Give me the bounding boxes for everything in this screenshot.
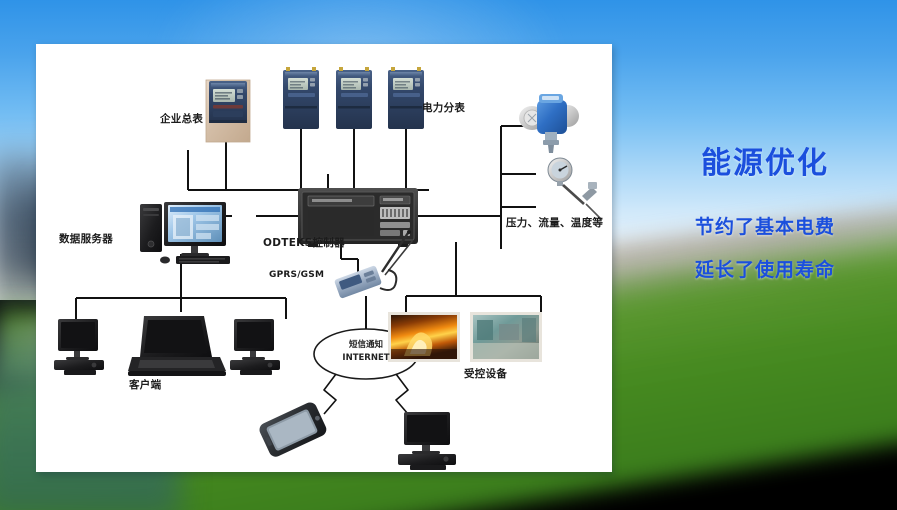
copy-benefit-1: 节约了基本电费 [640,212,890,239]
node-submeter-1 [283,67,319,129]
network-topology-diagram: 企业总表 电力分表 数据服务器 ODTEKS控制器 GPRS/GSM 压力、流量… [36,44,612,472]
label-cloud-sms: 短信通知 [328,341,404,350]
node-enterprise-meter [206,80,250,142]
node-client-desktop-2 [230,319,280,375]
node-gauge-sensor [548,158,602,220]
copy-headline: 能源优化 [640,138,890,182]
label-data-server: 数据服务器 [59,234,113,246]
node-data-server [140,202,230,264]
node-submeter-2 [336,67,372,129]
label-enterprise-meter: 企业总表 [160,114,203,126]
label-gprs-gsm: GPRS/GSM [269,271,324,281]
node-machinery-photo [470,312,542,362]
diagram-panel: 企业总表 电力分表 数据服务器 ODTEKS控制器 GPRS/GSM 压力、流量… [36,44,612,472]
label-odteks-controller: ODTEKS控制器 [263,238,345,250]
node-remote-monitor [398,412,456,470]
marketing-copy: 能源优化 节约了基本电费 延长了使用寿命 [640,138,890,298]
label-sensors: 压力、流量、温度等 [506,218,603,230]
node-client-laptop [128,316,226,376]
node-submeter-3 [388,67,424,129]
node-pressure-sensor [519,94,579,153]
label-power-submeters: 电力分表 [422,103,465,115]
node-client-desktop-1 [54,319,104,375]
copy-benefit-2: 延长了使用寿命 [640,255,890,282]
label-cloud-internet: INTERNET [328,354,404,363]
slide-canvas: 企业总表 电力分表 数据服务器 ODTEKS控制器 GPRS/GSM 压力、流量… [0,0,897,510]
label-clients: 客户端 [129,380,161,392]
node-mobile-phone [257,400,328,459]
label-controlled-equipment: 受控设备 [464,369,507,381]
